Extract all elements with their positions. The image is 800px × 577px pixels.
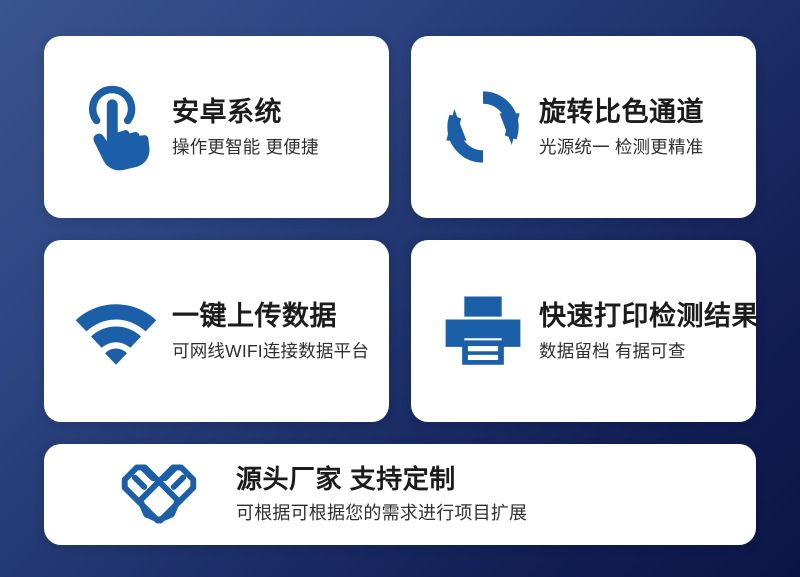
card-subtitle: 操作更智能 更便捷 xyxy=(172,136,319,159)
card-text-block: 旋转比色通道 光源统一 检测更精准 xyxy=(539,96,704,159)
card-text-block: 一键上传数据 可网线WIFI连接数据平台 xyxy=(172,300,369,363)
feature-card-one-click-upload[interactable]: 一键上传数据 可网线WIFI连接数据平台 xyxy=(44,240,389,422)
card-title: 一键上传数据 xyxy=(172,300,369,333)
printer-icon xyxy=(437,285,529,377)
card-title: 快速打印检测结果 xyxy=(539,300,742,333)
banner-subtitle: 可根据可根据您的需求进行项目扩展 xyxy=(236,502,527,525)
card-text-block: 安卓系统 操作更智能 更便捷 xyxy=(172,96,319,159)
feature-row-1: 安卓系统 操作更智能 更便捷 旋转比色通道 光源统一 检测更精准 xyxy=(44,36,756,218)
feature-card-fast-print-results[interactable]: 快速打印检测结果 数据留档 有据可查 xyxy=(411,240,756,422)
touch-hand-icon xyxy=(70,81,162,173)
card-subtitle: 数据留档 有据可查 xyxy=(539,340,742,363)
feature-card-rotating-colorimetric-channel[interactable]: 旋转比色通道 光源统一 检测更精准 xyxy=(411,36,756,218)
rotate-cycle-icon xyxy=(437,81,529,173)
feature-card-android-system[interactable]: 安卓系统 操作更智能 更便捷 xyxy=(44,36,389,218)
card-subtitle: 可网线WIFI连接数据平台 xyxy=(172,340,369,363)
banner-title: 源头厂家 支持定制 xyxy=(236,464,527,496)
crossed-pens-icon xyxy=(116,452,202,538)
wifi-icon xyxy=(70,285,162,377)
feature-card-manufacturer-customization[interactable]: 源头厂家 支持定制 可根据可根据您的需求进行项目扩展 xyxy=(44,444,756,545)
card-title: 安卓系统 xyxy=(172,96,319,129)
promo-feature-board: 安卓系统 操作更智能 更便捷 旋转比色通道 光源统一 检测更精准 xyxy=(0,0,800,577)
card-text-block: 快速打印检测结果 数据留档 有据可查 xyxy=(539,300,742,363)
card-title: 旋转比色通道 xyxy=(539,96,704,129)
feature-row-2: 一键上传数据 可网线WIFI连接数据平台 快速打印检测结果 数据留档 有据可查 xyxy=(44,240,756,422)
card-text-block: 源头厂家 支持定制 可根据可根据您的需求进行项目扩展 xyxy=(236,464,527,525)
card-subtitle: 光源统一 检测更精准 xyxy=(539,136,704,159)
